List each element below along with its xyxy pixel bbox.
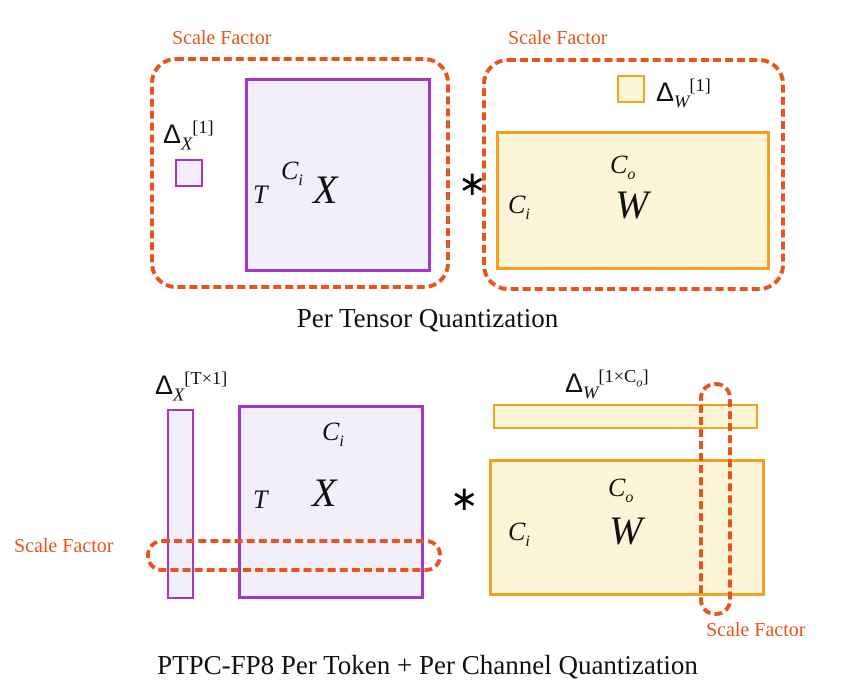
delta-superscript: [1]: [192, 117, 213, 137]
top-weight-col-dim-label: Co: [610, 152, 635, 183]
top-weight-row-dim-label: Ci: [508, 192, 530, 223]
col-dim-sub: i: [339, 433, 343, 450]
delta-superscript: [1]: [689, 75, 710, 95]
row-dim-symbol: C: [508, 517, 525, 546]
top-activation-scale-square: [175, 159, 203, 187]
col-dim-symbol: C: [610, 150, 627, 179]
delta-symbol: Δ: [155, 370, 173, 400]
delta-superscript: [T×1]: [184, 368, 227, 388]
delta-symbol: Δ: [565, 368, 583, 398]
bottom-weight-row-dim-label: Ci: [508, 519, 530, 550]
bottom-right-scale-factor-label: Scale Factor: [706, 620, 805, 640]
bottom-activation-matrix-label: X: [312, 473, 336, 513]
bottom-weight-col-dim-label: Co: [608, 475, 633, 506]
bottom-delta-x-label: ΔX[T×1]: [155, 369, 227, 404]
top-left-scale-factor-label: Scale Factor: [172, 28, 271, 48]
bottom-weight-matrix-label: W: [609, 511, 642, 551]
figure-canvas: Scale Factor ΔX[1] Ci T X ∗ Scale Factor…: [0, 0, 855, 693]
top-activation-matrix-label: X: [313, 170, 337, 210]
col-dim-sub: o: [625, 489, 633, 506]
bottom-right-scale-factor-region: [699, 382, 732, 616]
top-panel-caption: Per Tensor Quantization: [0, 303, 855, 334]
bottom-panel-caption: PTPC-FP8 Per Token + Per Channel Quantiz…: [0, 650, 855, 681]
delta-subscript: W: [674, 91, 689, 111]
row-dim-sub: i: [525, 533, 529, 550]
top-activation-col-dim-label: Ci: [281, 158, 303, 189]
row-dim-symbol: C: [508, 190, 525, 219]
bottom-left-scale-factor-region: [146, 539, 442, 572]
col-dim-sub: i: [298, 172, 302, 189]
delta-superscript: [1×Co]: [598, 366, 648, 386]
delta-subscript: X: [173, 384, 184, 404]
bottom-delta-w-label: ΔW[1×Co]: [565, 367, 649, 402]
top-delta-x-label: ΔX[1]: [163, 118, 214, 153]
top-weight-scale-square: [617, 75, 645, 103]
top-activation-matrix-x: [245, 78, 431, 272]
top-weight-matrix-label: W: [615, 185, 648, 225]
bottom-multiply-operator: ∗: [450, 483, 479, 517]
bottom-activation-col-dim-label: Ci: [322, 419, 344, 450]
col-dim-symbol: C: [281, 156, 298, 185]
col-dim-symbol: C: [322, 417, 339, 446]
bottom-left-scale-factor-label: Scale Factor: [14, 536, 113, 556]
delta-subscript: W: [583, 382, 598, 402]
top-right-scale-factor-label: Scale Factor: [508, 28, 607, 48]
delta-subscript: X: [181, 133, 192, 153]
delta-symbol: Δ: [656, 77, 674, 107]
top-activation-row-dim-label: T: [253, 182, 267, 208]
delta-superscript-end: ]: [642, 366, 648, 386]
delta-symbol: Δ: [163, 119, 181, 149]
col-dim-sub: o: [627, 166, 635, 183]
row-dim-sub: i: [525, 206, 529, 223]
col-dim-symbol: C: [608, 473, 625, 502]
bottom-activation-row-dim-label: T: [253, 487, 267, 513]
top-delta-w-label: ΔW[1]: [656, 76, 711, 111]
delta-superscript-main: [1×C: [598, 366, 636, 386]
